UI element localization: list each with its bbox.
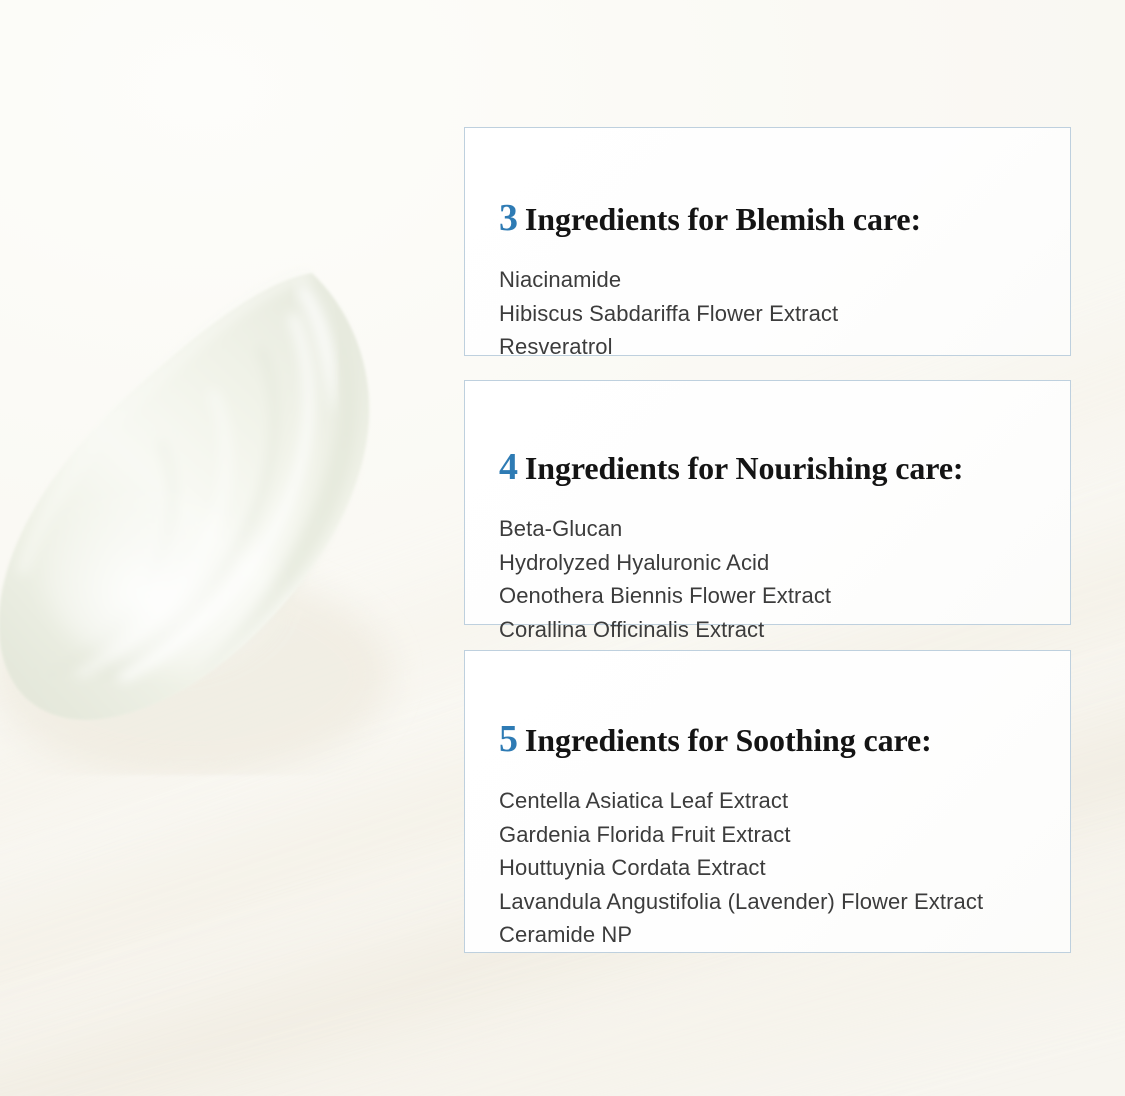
card-heading-text: Ingredients for Soothing care:	[525, 722, 932, 758]
card-heading: 3Ingredients for Blemish care:	[499, 155, 1036, 237]
list-item: Lavandula Angustifolia (Lavender) Flower…	[499, 885, 1036, 919]
list-item: Hydrolyzed Hyaluronic Acid	[499, 546, 1036, 580]
ingredient-infographic: 3Ingredients for Blemish care: Niacinami…	[0, 0, 1125, 1096]
card-heading: 4Ingredients for Nourishing care:	[499, 408, 1036, 486]
card-number: 4	[499, 446, 518, 488]
card-content: 4Ingredients for Nourishing care: Beta-G…	[465, 408, 1070, 647]
ingredient-items: Centella Asiatica Leaf Extract Gardenia …	[499, 784, 1036, 952]
list-item: Houttuynia Cordata Extract	[499, 851, 1036, 885]
card-number: 5	[499, 718, 518, 760]
list-item: Corallina Officinalis Extract	[499, 613, 1036, 647]
list-item: Oenothera Biennis Flower Extract	[499, 579, 1036, 613]
cream-swatch-shape	[0, 255, 460, 775]
list-item: Ceramide NP	[499, 918, 1036, 952]
card-heading: 5Ingredients for Soothing care:	[499, 678, 1036, 758]
list-item: Centella Asiatica Leaf Extract	[499, 784, 1036, 818]
list-item: Niacinamide	[499, 263, 1036, 297]
list-item: Hibiscus Sabdariffa Flower Extract	[499, 297, 1036, 331]
card-number: 3	[499, 197, 518, 239]
card-content: 5Ingredients for Soothing care: Centella…	[465, 678, 1070, 952]
card-heading-text: Ingredients for Nourishing care:	[525, 450, 964, 486]
cream-swatch	[0, 255, 460, 775]
ingredient-items: Beta-Glucan Hydrolyzed Hyaluronic Acid O…	[499, 512, 1036, 646]
card-heading-text: Ingredients for Blemish care:	[525, 201, 921, 237]
ingredient-card-nourishing: 4Ingredients for Nourishing care: Beta-G…	[464, 380, 1071, 625]
ingredient-items: Niacinamide Hibiscus Sabdariffa Flower E…	[499, 263, 1036, 364]
card-content: 3Ingredients for Blemish care: Niacinami…	[465, 155, 1070, 364]
ingredient-card-blemish: 3Ingredients for Blemish care: Niacinami…	[464, 127, 1071, 356]
list-item: Resveratrol	[499, 330, 1036, 364]
ingredient-card-soothing: 5Ingredients for Soothing care: Centella…	[464, 650, 1071, 953]
list-item: Gardenia Florida Fruit Extract	[499, 818, 1036, 852]
list-item: Beta-Glucan	[499, 512, 1036, 546]
